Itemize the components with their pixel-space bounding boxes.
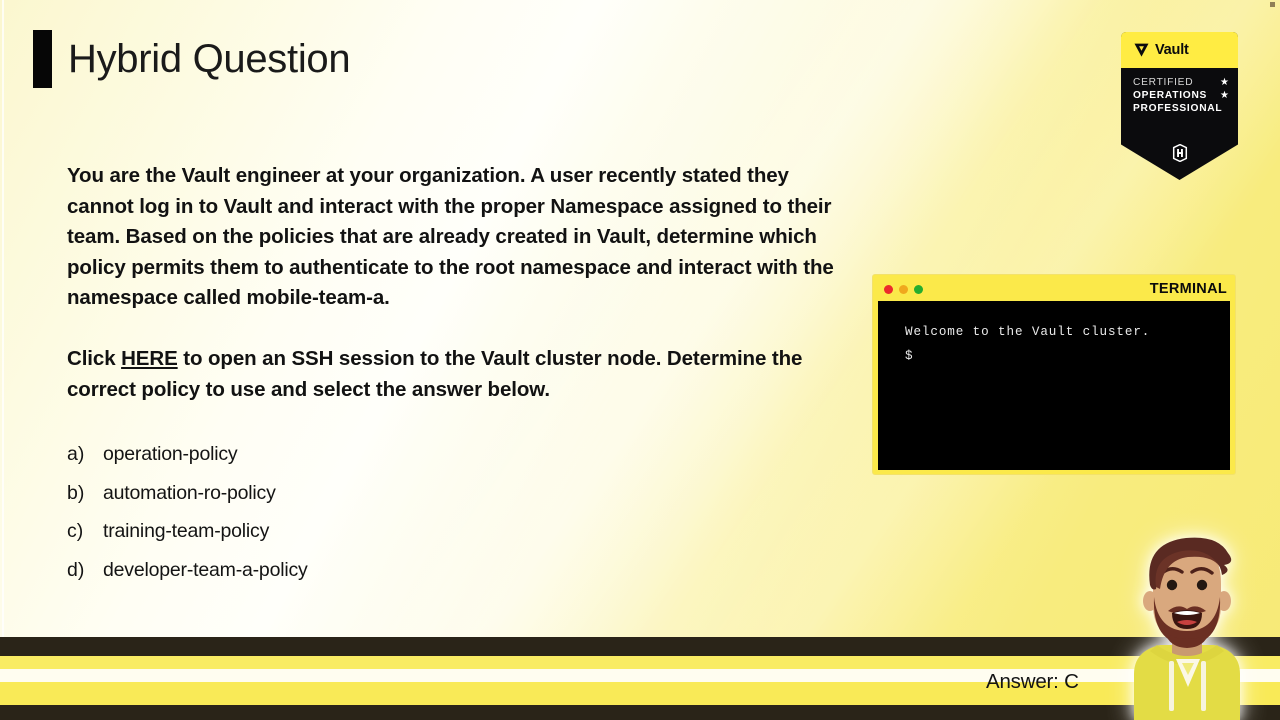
- option-c-label: training-team-policy: [103, 520, 269, 543]
- footer-bar-white: [0, 669, 1280, 682]
- close-icon[interactable]: [884, 285, 893, 294]
- badge-product-name: Vault: [1155, 42, 1189, 58]
- terminal-title-bar: TERMINAL: [877, 279, 1231, 299]
- instruction-text: Click HERE to open an SSH session to the…: [67, 344, 842, 405]
- page-title-row: Hybrid Question: [33, 30, 350, 88]
- maximize-icon[interactable]: [914, 285, 923, 294]
- minimize-icon[interactable]: [899, 285, 908, 294]
- vault-certification-badge: Vault CERTIFIED OPERATIONS PROFESSIONAL …: [1121, 32, 1238, 180]
- badge-credential-lines: CERTIFIED OPERATIONS PROFESSIONAL: [1133, 76, 1207, 116]
- instruction-prefix: Click: [67, 347, 121, 370]
- terminal-prompt: $: [905, 344, 1230, 368]
- badge-star-1: ★: [1220, 76, 1229, 89]
- option-b-letter: b): [67, 482, 103, 505]
- option-c[interactable]: c) training-team-policy: [67, 520, 587, 559]
- terminal-window[interactable]: TERMINAL Welcome to the Vault cluster. $: [872, 274, 1236, 475]
- badge-line-certified: CERTIFIED: [1133, 76, 1207, 89]
- option-d-letter: d): [67, 559, 103, 582]
- slide-canvas: Hybrid Question You are the Vault engine…: [0, 0, 1280, 720]
- option-a-label: operation-policy: [103, 443, 237, 466]
- vault-logo-icon: [1134, 43, 1149, 57]
- corner-artifact-dot: [1270, 2, 1275, 7]
- left-edge-line: [2, 0, 4, 720]
- badge-star-rating: ★ ★: [1220, 76, 1229, 102]
- option-a[interactable]: a) operation-policy: [67, 443, 587, 482]
- footer-bar-dark-top: [0, 637, 1280, 656]
- footer-bar-yellow-lower: [0, 682, 1280, 705]
- badge-star-2: ★: [1220, 89, 1229, 102]
- option-b[interactable]: b) automation-ro-policy: [67, 482, 587, 521]
- title-accent-bar: [33, 30, 52, 88]
- terminal-screen[interactable]: Welcome to the Vault cluster. $: [878, 301, 1230, 470]
- footer-bar-dark-bottom: [0, 705, 1280, 720]
- option-d-label: developer-team-a-policy: [103, 559, 308, 582]
- option-d[interactable]: d) developer-team-a-policy: [67, 559, 587, 598]
- here-link[interactable]: HERE: [121, 347, 178, 370]
- terminal-title: TERMINAL: [1150, 281, 1227, 297]
- instruction-suffix: to open an SSH session to the Vault clus…: [67, 347, 802, 401]
- badge-header: Vault: [1121, 32, 1238, 68]
- footer-bar-yellow-upper: [0, 656, 1280, 669]
- option-a-letter: a): [67, 443, 103, 466]
- question-body-text: You are the Vault engineer at your organ…: [67, 161, 842, 314]
- terminal-welcome-line: Welcome to the Vault cluster.: [905, 320, 1230, 344]
- answer-options-list: a) operation-policy b) automation-ro-pol…: [67, 443, 587, 597]
- answer-label: Answer: C: [986, 670, 1079, 694]
- avatar-illustration: [1112, 527, 1262, 720]
- window-controls-icon[interactable]: [884, 285, 923, 294]
- option-c-letter: c): [67, 520, 103, 543]
- badge-line-professional: PROFESSIONAL: [1133, 102, 1207, 115]
- option-b-label: automation-ro-policy: [103, 482, 276, 505]
- badge-line-operations: OPERATIONS: [1133, 89, 1207, 102]
- page-title: Hybrid Question: [68, 39, 350, 79]
- hashicorp-logo-icon: [1171, 144, 1188, 167]
